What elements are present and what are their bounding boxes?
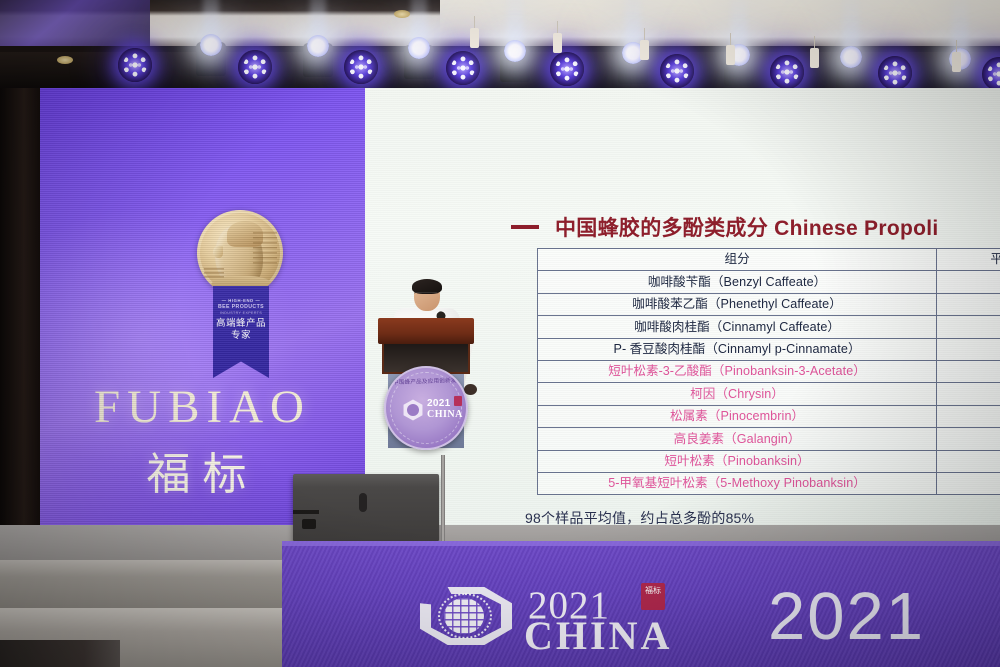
medal-portrait-nose (213, 246, 223, 258)
banner-big-year: 2021 (768, 578, 925, 655)
cell-component-name: P- 香豆酸肉桂酯（Cinnamyl p-Cinnamate） (538, 338, 937, 360)
fixture-lens (408, 37, 430, 59)
cell-component-name: 短叶松素-3-乙酸酯（Pinobanksin-3-Acetate） (538, 360, 937, 382)
led-par-light-icon (878, 56, 912, 90)
light-beam (731, 0, 747, 50)
banner-country: CHINA (524, 612, 672, 659)
lectern-top (378, 318, 474, 344)
propolis-composition-table: 组分 平 咖啡酸苄酯（Benzyl Caffeate）咖啡酸苯乙酯（Phenet… (537, 248, 1000, 495)
cell-component-name: 高良姜素（Galangin） (538, 428, 937, 450)
cell-average-value (937, 428, 1000, 450)
emblem-arc-text: 中国蜂产品及应用创新发展论坛 (393, 376, 464, 394)
moving-head-spotlight-icon (836, 44, 866, 88)
lectern-emblem: 中国蜂产品及应用创新发展论坛 2021 CHINA (384, 366, 468, 450)
speaker-handle-slot (359, 493, 367, 512)
table-row: 短叶松素（Pinobanksin） (538, 450, 1000, 472)
globe-icon (444, 598, 484, 634)
cell-average-value (937, 383, 1000, 405)
table-header-row: 组分 平 (538, 249, 1000, 271)
slide-title-text: 中国蜂胶的多酚类成分 Chinese Propoli (555, 212, 939, 242)
cell-component-name: 柯因（Chrysin） (538, 383, 937, 405)
banner-seal-icon: 福标 (641, 583, 665, 610)
logo-ribbon: — HIGH-END — BEE PRODUCTS INDUSTRY EXPER… (213, 286, 269, 378)
cell-component-name: 短叶松素（Pinobanksin） (538, 450, 937, 472)
cell-component-name: 松属素（Pinocembrin） (538, 405, 937, 427)
led-par-light-icon (770, 55, 804, 89)
stage-step-shadow (0, 640, 120, 667)
fixture-lens (504, 40, 526, 62)
table-row: 柯因（Chrysin） (538, 383, 1000, 405)
stage-monitor-speaker (293, 474, 439, 541)
lectern: 中国蜂产品及应用创新发展论坛 2021 CHINA (378, 318, 474, 448)
recessed-downlight-icon (57, 56, 73, 64)
cell-component-name: 咖啡酸苄酯（Benzyl Caffeate） (538, 271, 937, 293)
cell-average-value (937, 450, 1000, 472)
led-par-light-icon (118, 48, 152, 82)
cell-average-value (937, 316, 1000, 338)
stage-front-edge (282, 541, 1000, 546)
cell-average-value (937, 293, 1000, 315)
ceiling-hanger-icon (640, 40, 649, 60)
table-row: P- 香豆酸肉桂酯（Cinnamyl p-Cinnamate） (538, 338, 1000, 360)
gold-medal-icon (197, 210, 283, 296)
ribbon-cn-line2: 专家 (231, 330, 251, 342)
moving-head-spotlight-icon (500, 38, 530, 82)
speaker-connector-panel (302, 519, 316, 529)
cell-component-name: 咖啡酸肉桂酯（Cinnamyl Caffeate） (538, 316, 937, 338)
light-beam (952, 0, 968, 54)
stage-scene: — HIGH-END — BEE PRODUCTS INDUSTRY EXPER… (0, 0, 1000, 667)
fubiao-logo: — HIGH-END — BEE PRODUCTS INDUSTRY EXPER… (192, 210, 288, 380)
light-beam (625, 0, 641, 48)
cell-average-value (937, 338, 1000, 360)
emblem-country: CHINA (427, 409, 463, 420)
slide-title: 中国蜂胶的多酚类成分 Chinese Propoli (511, 212, 939, 242)
cell-average-value (937, 405, 1000, 427)
column-header-average: 平 (937, 249, 1000, 271)
moving-head-spotlight-icon (196, 32, 226, 76)
cell-average-value (937, 360, 1000, 382)
table-row: 短叶松素-3-乙酸酯（Pinobanksin-3-Acetate） (538, 360, 1000, 382)
led-par-light-icon (660, 54, 694, 88)
ribbon-cn-line1: 高端蜂产品 (216, 318, 266, 330)
ceiling-panel-purple (0, 0, 150, 46)
medal-inscription-right (253, 232, 277, 266)
stage-step-upper (0, 560, 284, 608)
table-row: 松属素（Pinocembrin） (538, 405, 1000, 427)
table-row: 5-甲氧基短叶松素（5-Methoxy Pinobanksin） (538, 472, 1000, 494)
ceiling-hanger-icon (810, 48, 819, 68)
cell-component-name: 5-甲氧基短叶松素（5-Methoxy Pinobanksin） (538, 472, 937, 494)
light-beam (843, 0, 859, 52)
slide-note-average: 98个样品平均值，约占总多酚的85% (525, 508, 754, 525)
table-row: 高良姜素（Galangin） (538, 428, 1000, 450)
ceiling-panel-white (440, 0, 1000, 30)
table-row: 咖啡酸苯乙酯（Phenethyl Caffeate） (538, 293, 1000, 315)
led-par-light-icon (550, 52, 584, 86)
ribbon-en-line3: INDUSTRY EXPERTS (220, 311, 262, 316)
glasses-icon (414, 292, 438, 298)
led-wall-left-panel: — HIGH-END — BEE PRODUCTS INDUSTRY EXPER… (40, 88, 365, 525)
speaker-band (293, 510, 319, 514)
red-seal-stamp-icon (454, 396, 462, 406)
ceiling-hanger-icon (726, 45, 735, 65)
table-row: 咖啡酸肉桂酯（Cinnamyl Caffeate） (538, 316, 1000, 338)
moving-head-spotlight-icon (404, 35, 434, 79)
column-header-component: 组分 (538, 249, 937, 271)
brand-name-english: FUBIAO (40, 380, 365, 434)
wall-left-dark (0, 88, 40, 528)
led-par-light-icon (238, 50, 272, 84)
ribbon-en-line2: BEE PRODUCTS (218, 304, 264, 311)
ceiling-hanger-icon (952, 52, 961, 72)
mic-stand (441, 455, 445, 543)
title-dash-icon (511, 225, 539, 229)
led-par-light-icon (344, 50, 378, 84)
moving-head-spotlight-icon (303, 33, 333, 77)
ceiling-hanger-icon (553, 33, 562, 53)
cell-component-name: 咖啡酸苯乙酯（Phenethyl Caffeate） (538, 293, 937, 315)
cell-average-value (937, 472, 1000, 494)
fixture-lens (307, 35, 329, 57)
banner-logo-icon (418, 585, 514, 647)
fixture-lens (200, 34, 222, 56)
medal-inscription-left (204, 268, 224, 278)
table-row: 咖啡酸苄酯（Benzyl Caffeate） (538, 271, 1000, 293)
ceiling-hanger-icon (470, 28, 479, 48)
cell-average-value (937, 271, 1000, 293)
led-par-light-icon (446, 51, 480, 85)
recessed-downlight-icon (394, 10, 410, 18)
fixture-lens (840, 46, 862, 68)
emblem-year: 2021 (427, 398, 450, 409)
